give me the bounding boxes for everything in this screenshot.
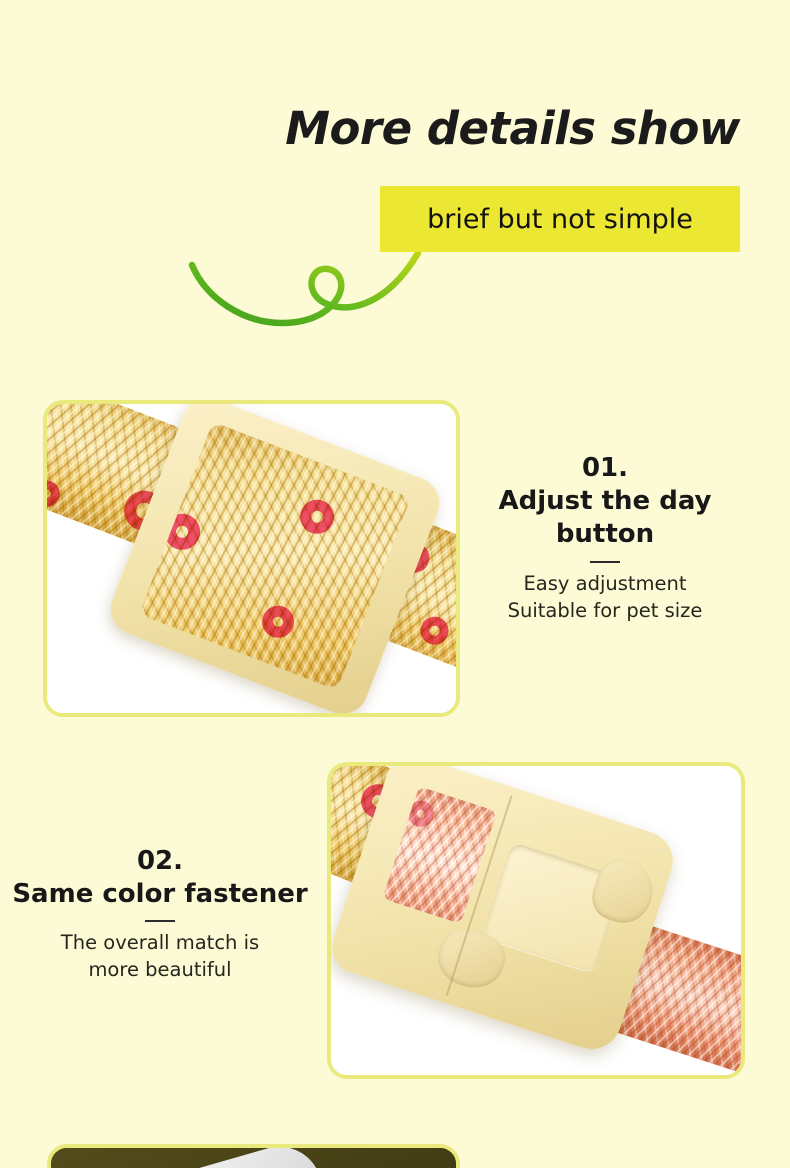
feature-photo-card-01[interactable] [43,400,460,717]
feature-photo-card-02[interactable] [327,762,745,1079]
buckle-strap-slot [382,786,496,924]
feature-text-block-02: 02. Same color fastener The overall matc… [10,845,310,984]
feature-index-02: 02. [10,845,310,878]
shoe-object [164,1148,327,1168]
feature-divider-01 [590,561,620,563]
page-title: More details show [285,104,740,154]
flower-motif [262,606,294,638]
flower-motif [300,500,334,534]
flower-motif [47,477,64,511]
flower-motif [164,514,200,550]
feature-photo-card-03[interactable] [47,1144,460,1168]
feature-divider-02 [145,920,175,922]
feature-title-02: Same color fastener [10,878,310,912]
subtitle-text: brief but not simple [380,186,740,252]
third-photo-stage [51,1148,456,1168]
strap-through-buckle [139,422,411,690]
feature-desc-01-line2: Suitable for pet size [455,598,755,625]
subtitle-highlight-box: brief but not simple [380,186,740,252]
flower-motif [344,422,374,448]
feature-text-block-01: 01. Adjust the day button Easy adjustmen… [455,452,755,625]
buckle-window [139,422,411,690]
feature-index-01: 01. [455,452,755,485]
feature-desc-02-line1: The overall match is [10,930,310,957]
feature-desc-01-line1: Easy adjustment [455,571,755,598]
product-detail-page: More details show brief but not simple [0,0,790,1168]
flower-motif [416,613,452,649]
feature-desc-02-line2: more beautiful [10,957,310,984]
feature-title-01: Adjust the day button [455,485,755,553]
green-squiggle-decoration [170,235,440,350]
strap-in-slot [382,786,496,924]
side-release-buckle-photo [331,766,741,1075]
flower-motif [405,798,437,830]
header-section: More details show brief but not simple [0,0,790,360]
adjuster-slider-photo [47,404,456,713]
